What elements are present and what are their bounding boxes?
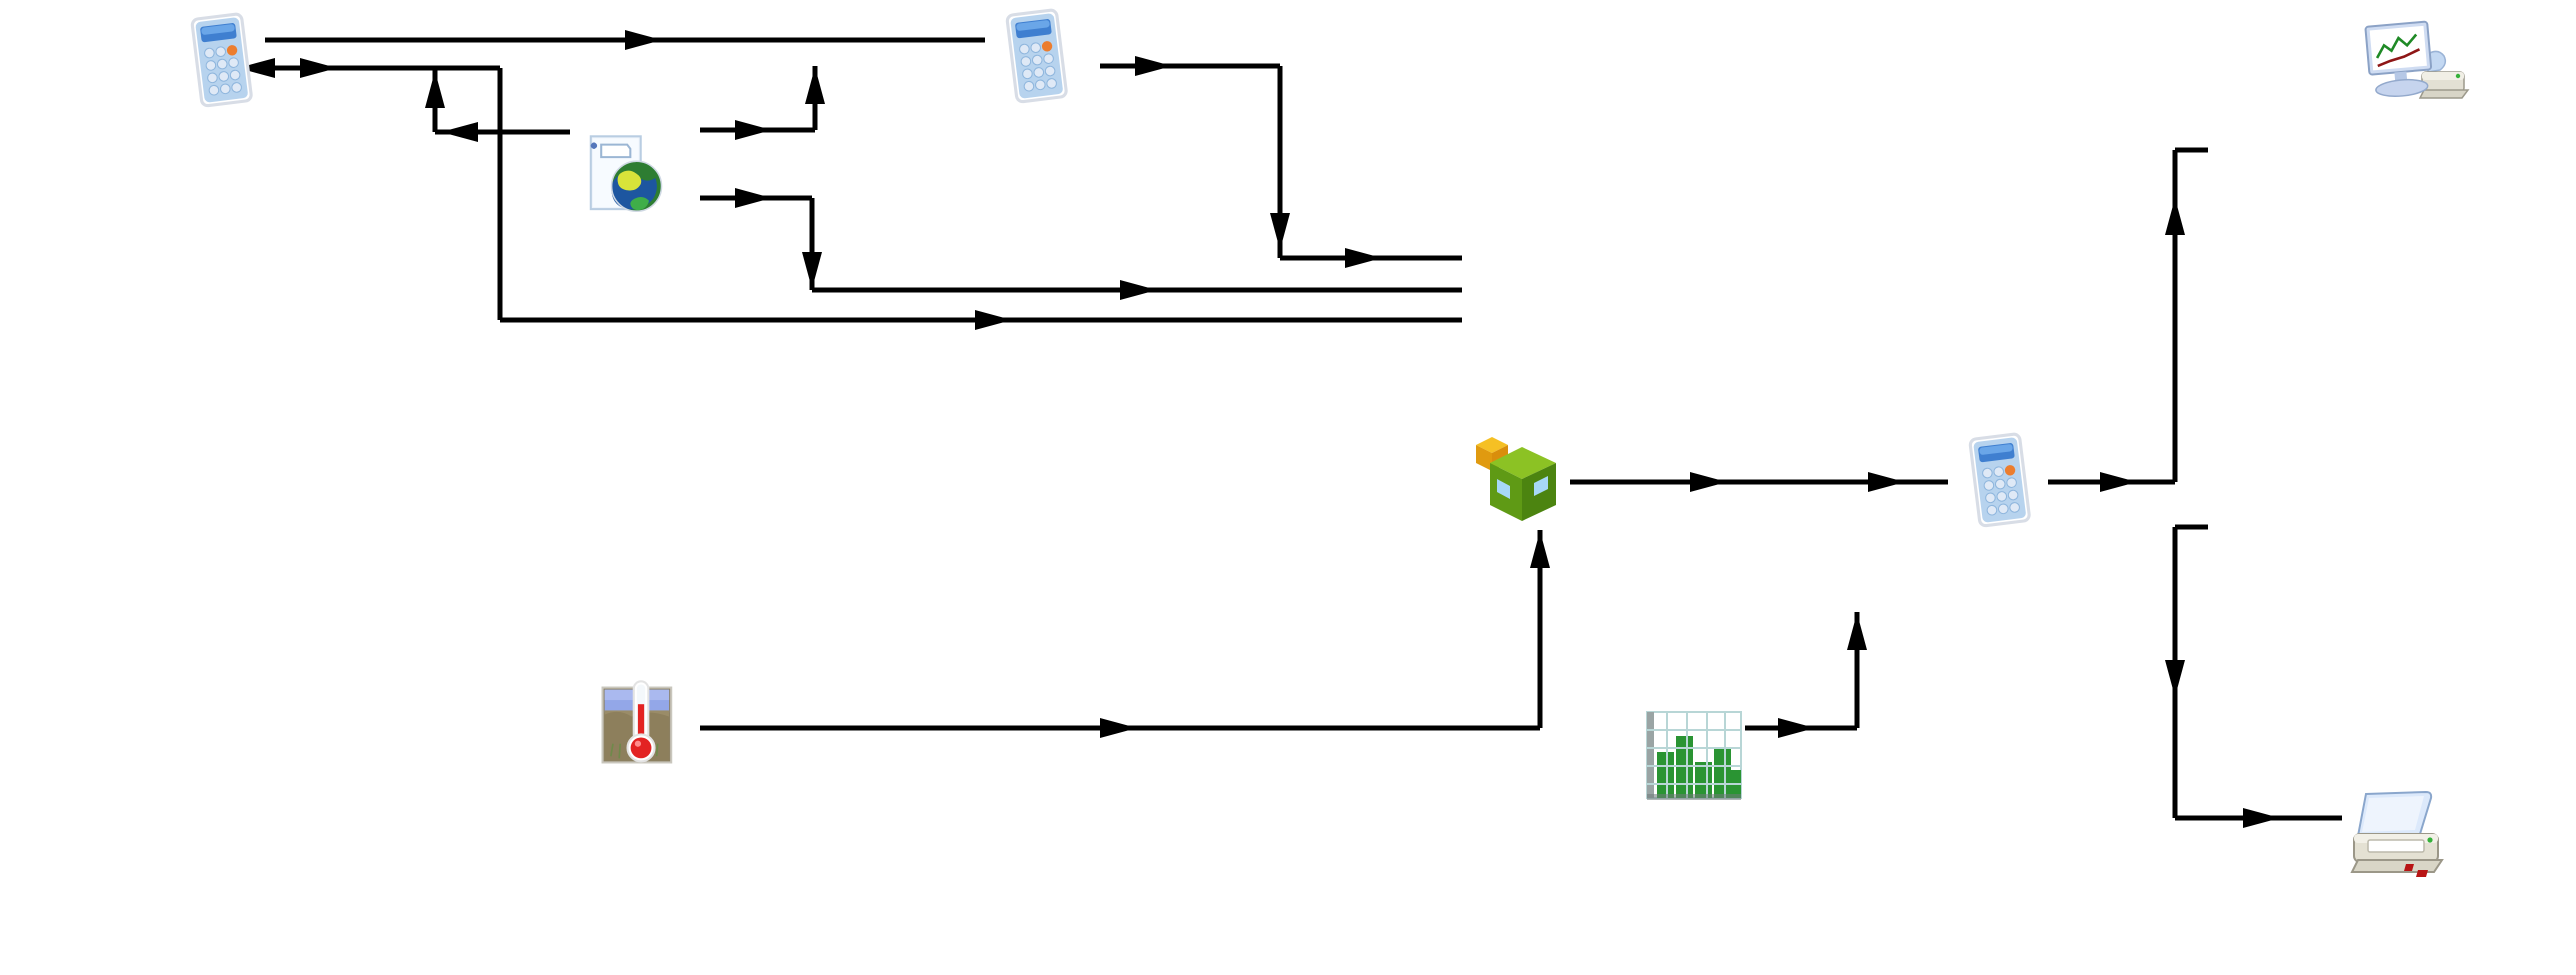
- node-label-building: Building: [0, 72, 1288, 90]
- node-label-ground-temperature: Ground Temperature: [0, 54, 1288, 72]
- node-label-equation: Equation: [0, 108, 1288, 126]
- node-equation[interactable]: [1948, 430, 2052, 534]
- wire-building-to-equation: [1570, 472, 1948, 492]
- wire-weather-to-building-upper: [700, 188, 1462, 300]
- wire-equation-to-output-load: [2048, 150, 2208, 492]
- wire-time-to-equation: [1745, 612, 1867, 738]
- diagram-canvas: Wizard Settings Radiation Unit Conv: [0, 0, 2576, 975]
- bar-chart-icon: [1645, 710, 1745, 802]
- wire-ground-temp-to-building: [700, 530, 1550, 738]
- monitor-printer-icon: [2360, 20, 2470, 116]
- node-label-wizard-settings: Wizard Settings: [0, 0, 1288, 18]
- node-label-weather: Weather: [0, 36, 1288, 54]
- node-daily-load[interactable]: [2342, 790, 2452, 882]
- node-time[interactable]: [1645, 710, 1745, 802]
- thermometer-icon: [588, 673, 692, 777]
- node-label-radiation-unit-converter: Radiation Unit Converter: [0, 18, 1288, 36]
- wire-equation-to-daily-load: [2165, 527, 2342, 828]
- green-cube-icon: [1462, 425, 1572, 535]
- node-output-load[interactable]: [2360, 20, 2470, 116]
- node-label-output-load: Output Load: [0, 126, 1288, 144]
- node-label-daily-load: Daily Load: [0, 144, 1288, 162]
- node-ground-temperature[interactable]: [588, 673, 692, 777]
- node-building[interactable]: [1462, 425, 1572, 535]
- node-label-time: Time: [0, 90, 1288, 108]
- printer-icon: [2342, 790, 2452, 882]
- calculator-icon: [1948, 430, 2052, 534]
